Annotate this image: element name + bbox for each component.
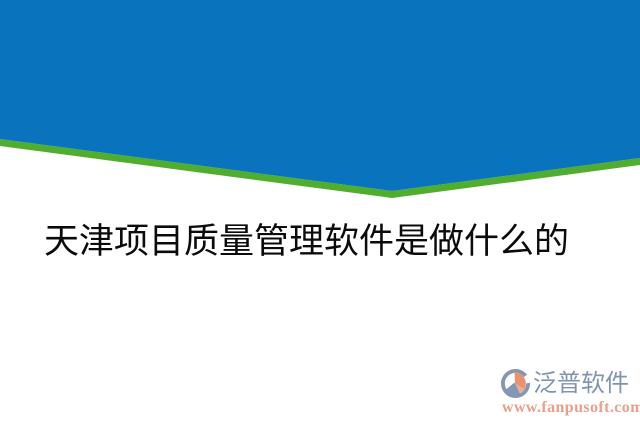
logo-brand-text: 泛普软件 [533, 371, 629, 395]
chevron-banner [0, 0, 640, 200]
fanpu-circle-logo-icon [500, 368, 531, 399]
page-title: 天津项目质量管理软件是做什么的 [44, 220, 604, 264]
logo-url-text: www.fanpusoft.com [502, 399, 640, 417]
banner-blue-body [0, 0, 640, 191]
slide-canvas: 天津项目质量管理软件是做什么的 泛普软件 www.fanpusoft.com [0, 0, 640, 427]
watermark-logo: 泛普软件 www.fanpusoft.com [500, 366, 636, 422]
logo-lockup: 泛普软件 [500, 366, 629, 400]
